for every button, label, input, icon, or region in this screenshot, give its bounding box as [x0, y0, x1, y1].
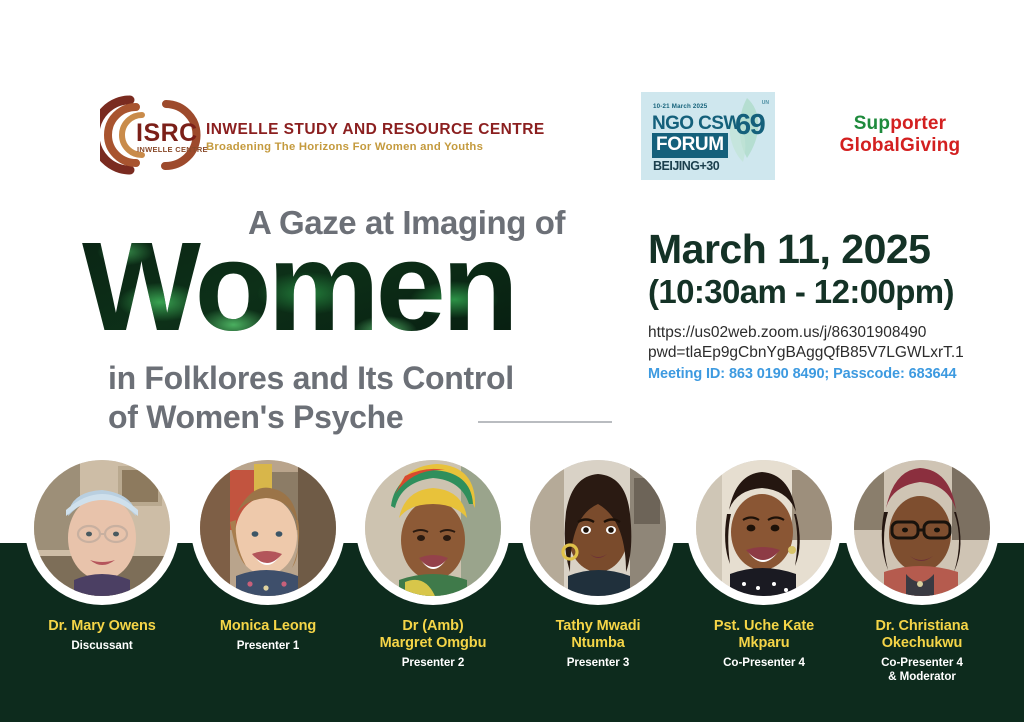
poster-header: ISRC INWELLE CENTRE INWELLE STUDY AND RE…	[0, 0, 1024, 190]
speaker-name-line-2: Mkparu	[684, 635, 844, 652]
ngo-forum-label: FORUM	[652, 133, 728, 158]
supporter-label: Supporter	[800, 113, 1000, 134]
speaker-name-line-1: Pst. Uche Kate	[684, 618, 844, 635]
speaker-card-2: Monica Leong Presenter 1	[188, 460, 348, 653]
speaker-role: Presenter 2	[353, 656, 513, 670]
speaker-name: Dr (Amb) Margret Omgbu	[353, 618, 513, 652]
event-info-block: March 11, 2025 (10:30am - 12:00pm) https…	[648, 228, 1008, 382]
speaker-role-line-1: Co-Presenter 4	[684, 656, 844, 670]
speaker-role: Discussant	[22, 639, 182, 653]
supporter-org-name: GlobalGiving	[800, 135, 1000, 156]
speaker-role-line-1: Discussant	[22, 639, 182, 653]
isrc-org-name: INWELLE STUDY AND RESOURCE CENTRE	[206, 121, 545, 139]
speaker-name-line-1: Tathy Mwadi	[518, 618, 678, 635]
speaker-card-4: Tathy Mwadi Ntumba Presenter 3	[518, 460, 678, 670]
speaker-card-5: Pst. Uche Kate Mkparu Co-Presenter 4	[684, 460, 844, 670]
speaker-role-line-1: Presenter 3	[518, 656, 678, 670]
speaker-card-3: Dr (Amb) Margret Omgbu Presenter 2	[353, 460, 513, 670]
speaker-role-line-2: & Moderator	[842, 670, 1002, 684]
speaker-role: Presenter 3	[518, 656, 678, 670]
ngo-csw-text: NGO CSW	[652, 113, 741, 135]
event-date: March 11, 2025	[648, 228, 1008, 271]
portrait-christiana-okechukwu	[854, 460, 990, 596]
speaker-name: Dr. Christiana Okechukwu	[842, 618, 1002, 652]
ngo-beijing-label: BEIJING+30	[653, 159, 719, 173]
speaker-role-line-1: Co-Presenter 4	[842, 656, 1002, 670]
speaker-name-line-2: Okechukwu	[842, 635, 1002, 652]
portrait-mary-owens	[34, 460, 170, 596]
speaker-name-line-1: Dr. Christiana	[842, 618, 1002, 635]
speaker-name-line-1: Dr. Mary Owens	[22, 618, 182, 635]
speaker-name-line-1: Dr (Amb)	[353, 618, 513, 635]
supporter-label-part1: Sup	[854, 113, 891, 134]
speaker-name: Dr. Mary Owens	[22, 618, 182, 635]
speaker-card-6: Dr. Christiana Okechukwu Co-Presenter 4 …	[842, 460, 1002, 684]
portrait-tathy-mwadi-ntumba	[530, 460, 666, 596]
portrait-margret-omgbu	[365, 460, 501, 596]
title-word-women: Women	[82, 224, 515, 350]
title-subtitle: in Folklores and Its Control of Women's …	[108, 359, 514, 437]
event-time: (10:30am - 12:00pm)	[648, 273, 1008, 311]
event-poster: ISRC INWELLE CENTRE INWELLE STUDY AND RE…	[0, 0, 1024, 722]
ngo-dates: 10-21 March 2025	[653, 103, 707, 110]
meeting-id-passcode: Meeting ID: 863 0190 8490; Passcode: 683…	[648, 366, 1008, 382]
speaker-name: Monica Leong	[188, 618, 348, 635]
title-underline-rule	[478, 421, 612, 423]
zoom-link[interactable]: https://us02web.zoom.us/j/86301908490 pw…	[648, 323, 1008, 363]
title-line-3: in Folklores and Its Control	[108, 359, 514, 398]
zoom-link-line-2: pwd=tlaEp9gCbnYgBAggQfB85V7LGWLxrT.1	[648, 343, 1008, 363]
zoom-link-line-1: https://us02web.zoom.us/j/86301908490	[648, 323, 1008, 343]
speaker-role: Co-Presenter 4 & Moderator	[842, 656, 1002, 684]
isrc-logo-lockup: ISRC INWELLE CENTRE INWELLE STUDY AND RE…	[100, 94, 545, 176]
speaker-role: Presenter 1	[188, 639, 348, 653]
speaker-name-line-2: Margret Omgbu	[353, 635, 513, 652]
ngo-csw-forum-badge: UN 10-21 March 2025 NGO CSW 69 FORUM BEI…	[641, 92, 775, 180]
poster-title-block: A Gaze at Imaging of Women in Folklores …	[0, 196, 640, 426]
svg-text:INWELLE CENTRE: INWELLE CENTRE	[137, 145, 208, 154]
title-line-4: of Women's Psyche	[108, 398, 514, 437]
speaker-name-line-1: Monica Leong	[188, 618, 348, 635]
speaker-name: Tathy Mwadi Ntumba	[518, 618, 678, 652]
speaker-name: Pst. Uche Kate Mkparu	[684, 618, 844, 652]
isrc-circle-logo-icon: ISRC INWELLE CENTRE	[100, 94, 210, 176]
ngo-session-number: 69	[735, 111, 764, 140]
speaker-role-line-1: Presenter 2	[353, 656, 513, 670]
portrait-uche-kate-mkparu	[696, 460, 832, 596]
isrc-wordmark: INWELLE STUDY AND RESOURCE CENTRE Broade…	[206, 117, 545, 153]
supporter-block: Supporter GlobalGiving	[800, 113, 1000, 157]
isrc-tagline: Broadening The Horizons For Women and Yo…	[206, 141, 545, 153]
speaker-name-line-2: Ntumba	[518, 635, 678, 652]
speaker-card-1: Dr. Mary Owens Discussant	[22, 460, 182, 653]
speaker-role-line-1: Presenter 1	[188, 639, 348, 653]
speaker-role: Co-Presenter 4	[684, 656, 844, 670]
supporter-label-part2: porter	[890, 113, 946, 134]
ngo-corner-mark: UN	[762, 100, 769, 106]
svg-text:ISRC: ISRC	[136, 119, 198, 147]
portrait-monica-leong	[200, 460, 336, 596]
